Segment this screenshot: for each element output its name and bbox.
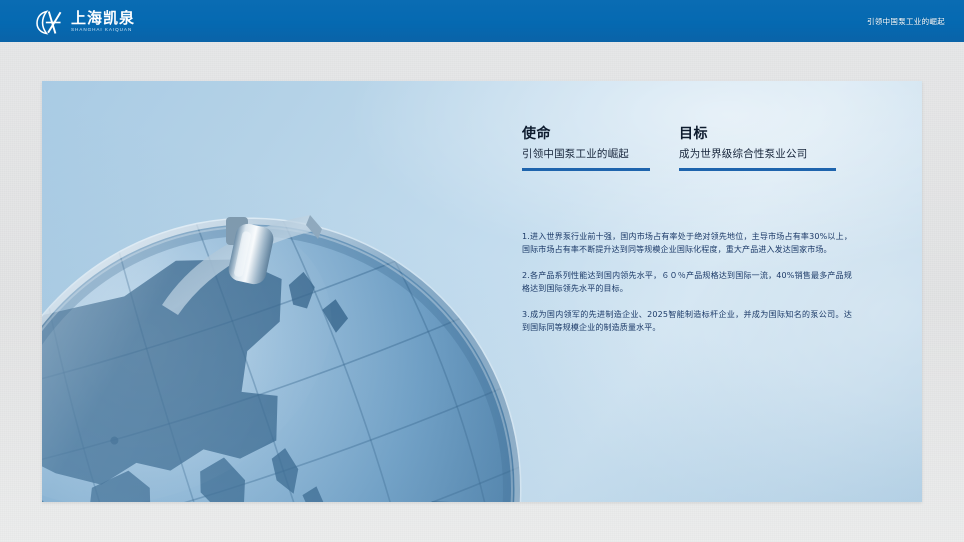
goal-underline bbox=[679, 168, 836, 171]
mission-subtitle: 引领中国泵工业的崛起 bbox=[522, 149, 679, 161]
slide-canvas: 使命 引领中国泵工业的崛起 目标 成为世界级综合性泵业公司 1.进入世界泵行业前… bbox=[42, 81, 922, 502]
logo-wordmark: 上海凯泉 SHANGHAI KAIQUAN bbox=[71, 11, 135, 32]
paragraph-item: 2.各产品系列性能达到国内领先水平，６０％产品规格达到国际一流，40%销售最多产… bbox=[522, 270, 852, 296]
logo-name-en: SHANGHAI KAIQUAN bbox=[71, 28, 138, 32]
goal-block: 目标 成为世界级综合性泵业公司 bbox=[679, 127, 836, 171]
page-root: 上海凯泉 SHANGHAI KAIQUAN 引领中国泵工业的崛起 bbox=[0, 0, 964, 542]
logo-name-cn: 上海凯泉 bbox=[71, 11, 135, 26]
goal-title: 目标 bbox=[679, 127, 836, 142]
mission-underline bbox=[522, 168, 650, 171]
slide-text-content: 使命 引领中国泵工业的崛起 目标 成为世界级综合性泵业公司 1.进入世界泵行业前… bbox=[522, 127, 874, 335]
kaiquan-monogram-icon bbox=[36, 10, 66, 35]
goal-subtitle: 成为世界级综合性泵业公司 bbox=[679, 149, 836, 161]
globe-stand-bracket bbox=[160, 173, 370, 323]
app-header-bar: 上海凯泉 SHANGHAI KAIQUAN 引领中国泵工业的崛起 bbox=[0, 0, 964, 42]
paragraph-list: 1.进入世界泵行业前十强，国内市场占有率处于绝对领先地位，主导市场占有率30%以… bbox=[522, 231, 874, 335]
mission-block: 使命 引领中国泵工业的崛起 bbox=[522, 127, 679, 171]
paragraph-item: 1.进入世界泵行业前十强，国内市场占有率处于绝对领先地位，主导市场占有率30%以… bbox=[522, 231, 852, 257]
mission-title: 使命 bbox=[522, 127, 679, 142]
company-logo[interactable]: 上海凯泉 SHANGHAI KAIQUAN bbox=[36, 9, 135, 35]
paragraph-item: 3.成为国内领军的先进制造企业、2025智能制造标杆企业，并成为国际知名的泵公司… bbox=[522, 309, 852, 335]
headings-row: 使命 引领中国泵工业的崛起 目标 成为世界级综合性泵业公司 bbox=[522, 127, 874, 171]
header-slogan: 引领中国泵工业的崛起 bbox=[867, 0, 945, 42]
